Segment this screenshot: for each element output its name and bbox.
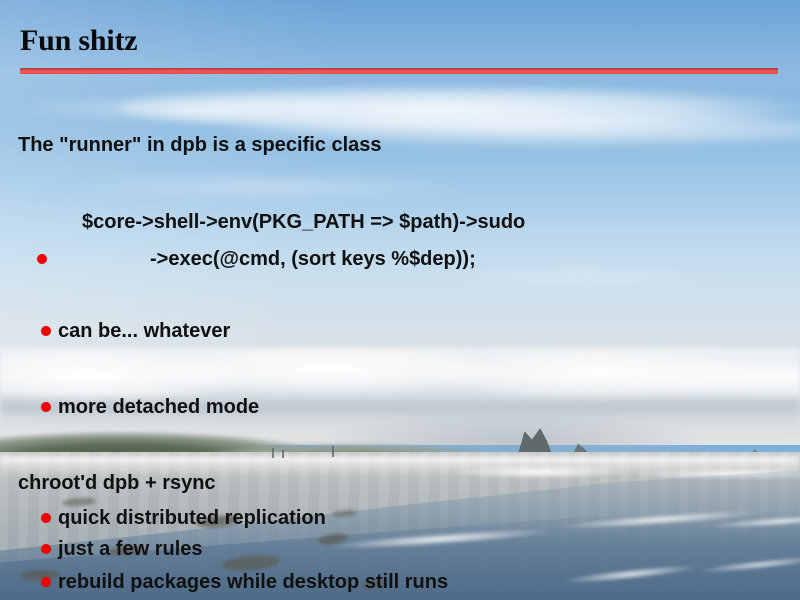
bullet-more-detached xyxy=(41,402,51,412)
bullet-item-few-rules: just a few rules xyxy=(58,537,203,561)
title-underline-rule xyxy=(20,68,778,74)
bullet-rebuild-packages xyxy=(41,577,51,587)
presentation-slide: Fun shitz The "runner" in dpb is a speci… xyxy=(0,0,800,600)
slide-content: Fun shitz The "runner" in dpb is a speci… xyxy=(0,0,800,600)
bullet-item-can-be: can be... whatever xyxy=(58,319,230,343)
bullet-item-quick-replication: quick distributed replication xyxy=(58,506,326,530)
bullet-quick-replication xyxy=(41,513,51,523)
intro-line: The "runner" in dpb is a specific class xyxy=(18,133,382,157)
chroot-heading: chroot'd dpb + rsync xyxy=(18,471,216,495)
bullet-item-more-detached: more detached mode xyxy=(58,395,259,419)
code-line-2: ->exec(@cmd, (sort keys %$dep)); xyxy=(150,247,476,271)
slide-title: Fun shitz xyxy=(20,24,137,58)
bullet-code-block xyxy=(37,254,47,264)
bullet-few-rules xyxy=(41,544,51,554)
code-line-1: $core->shell->env(PKG_PATH => $path)->su… xyxy=(82,210,525,234)
bullet-item-rebuild-packages: rebuild packages while desktop still run… xyxy=(58,570,448,594)
bullet-can-be xyxy=(41,326,51,336)
